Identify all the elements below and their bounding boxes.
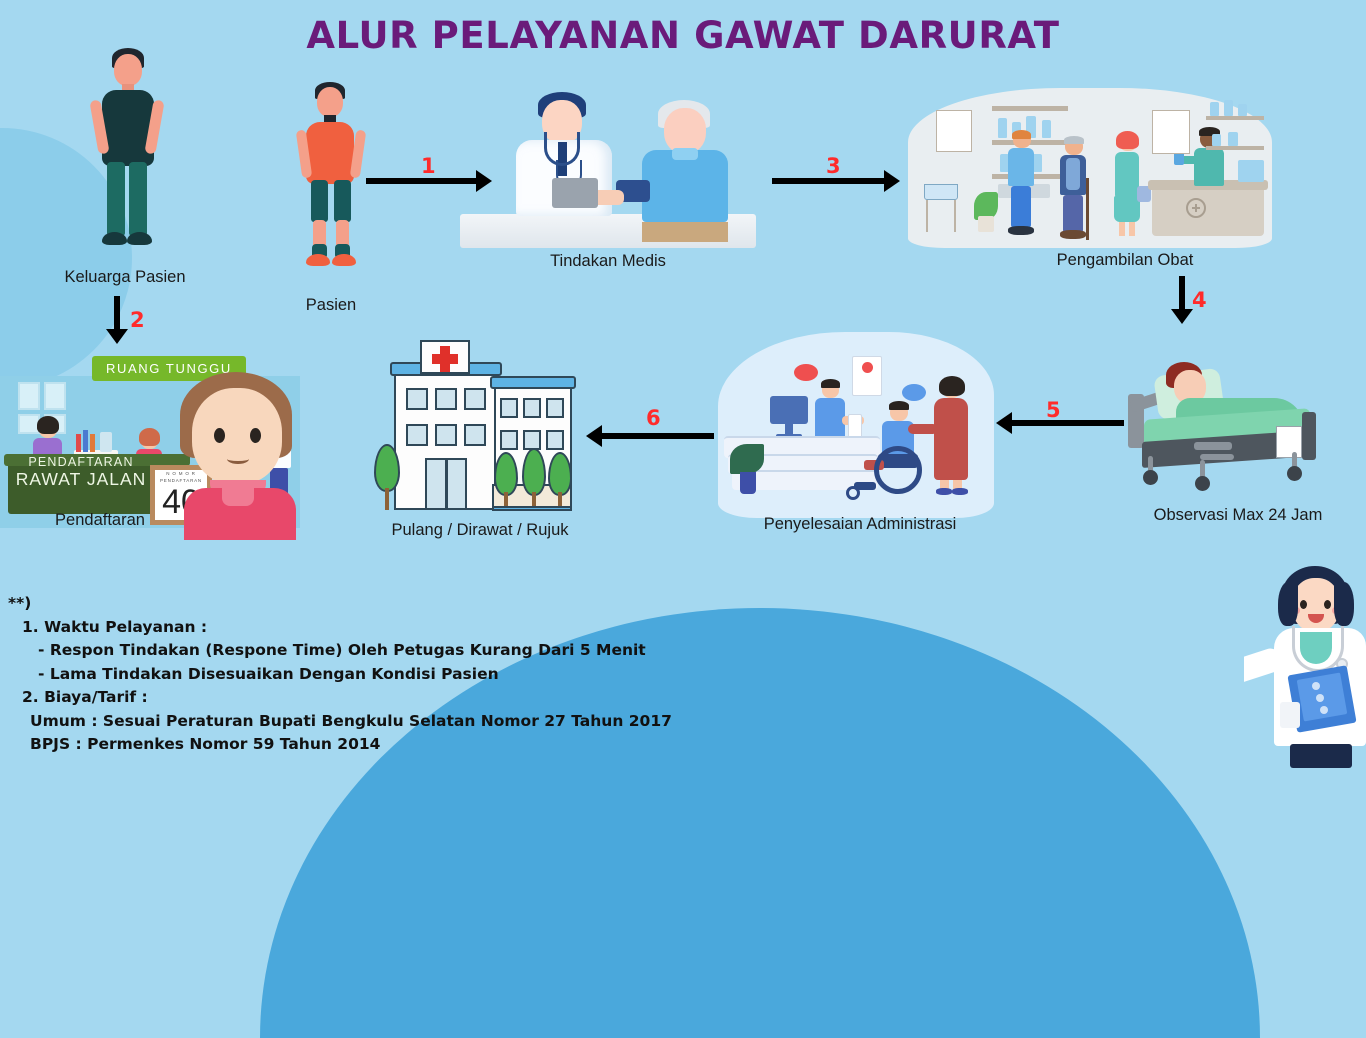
caption-pendaftaran: Pendaftaran [20, 511, 180, 530]
footnote-line: - Respon Tindakan (Respone Time) Oleh Pe… [8, 639, 672, 663]
page-title: ALUR PELAYANAN GAWAT DARURAT [0, 14, 1366, 57]
illustration-pulang-dirawat-rujuk [366, 334, 592, 516]
illustration-tindakan-medis [460, 84, 756, 248]
caption-tindakan-medis: Tindakan Medis [498, 252, 718, 271]
footnote-line: - Lama Tindakan Disesuaikan Dengan Kondi… [8, 663, 672, 687]
illustration-doctor-bottom-right [1244, 562, 1366, 768]
infographic-canvas: ALUR PELAYANAN GAWAT DARURAT Keluarga Pa… [0, 0, 1366, 768]
arrow-4-number: 4 [1192, 288, 1207, 312]
illustration-pasien [293, 82, 369, 268]
arrow-6-number: 6 [646, 406, 661, 430]
illustration-penyelesaian-administrasi [718, 332, 994, 518]
illustration-observasi [1124, 352, 1350, 500]
illustration-pengambilan-obat [908, 88, 1272, 248]
caption-keluarga-pasien: Keluarga Pasien [30, 268, 220, 287]
caption-pasien: Pasien [261, 296, 401, 315]
caption-observasi: Observasi Max 24 Jam [1118, 506, 1358, 525]
caption-penyelesaian-administrasi: Penyelesaian Administrasi [730, 515, 990, 534]
arrow-5-number: 5 [1046, 398, 1061, 422]
arrow-4 [1170, 276, 1194, 324]
arrow-3-number: 3 [826, 154, 841, 178]
arrow-2 [105, 296, 129, 344]
footnote-marker: **) [8, 592, 672, 616]
registration-desk-sign: PENDAFTARAN RAWAT JALAN [12, 456, 150, 489]
arrow-2-number: 2 [130, 308, 145, 332]
illustration-keluarga-pasien [78, 48, 176, 260]
caption-pulang-dirawat-rujuk: Pulang / Dirawat / Rujuk [370, 521, 590, 540]
footnote-line: 2. Biaya/Tarif : [8, 686, 672, 710]
arrow-1-number: 1 [421, 154, 436, 178]
registration-desk-sign-line2: RAWAT JALAN [12, 470, 150, 488]
footnotes: **) 1. Waktu Pelayanan : - Respon Tindak… [8, 592, 672, 757]
caption-pengambilan-obat: Pengambilan Obat [1000, 251, 1250, 270]
illustration-foreground-boy [174, 372, 304, 540]
footnote-line: BPJS : Permenkes Nomor 59 Tahun 2014 [8, 733, 672, 757]
footnote-line: Umum : Sesuai Peraturan Bupati Bengkulu … [8, 710, 672, 734]
registration-desk-sign-line1: PENDAFTARAN [12, 456, 150, 469]
footnote-line: 1. Waktu Pelayanan : [8, 616, 672, 640]
